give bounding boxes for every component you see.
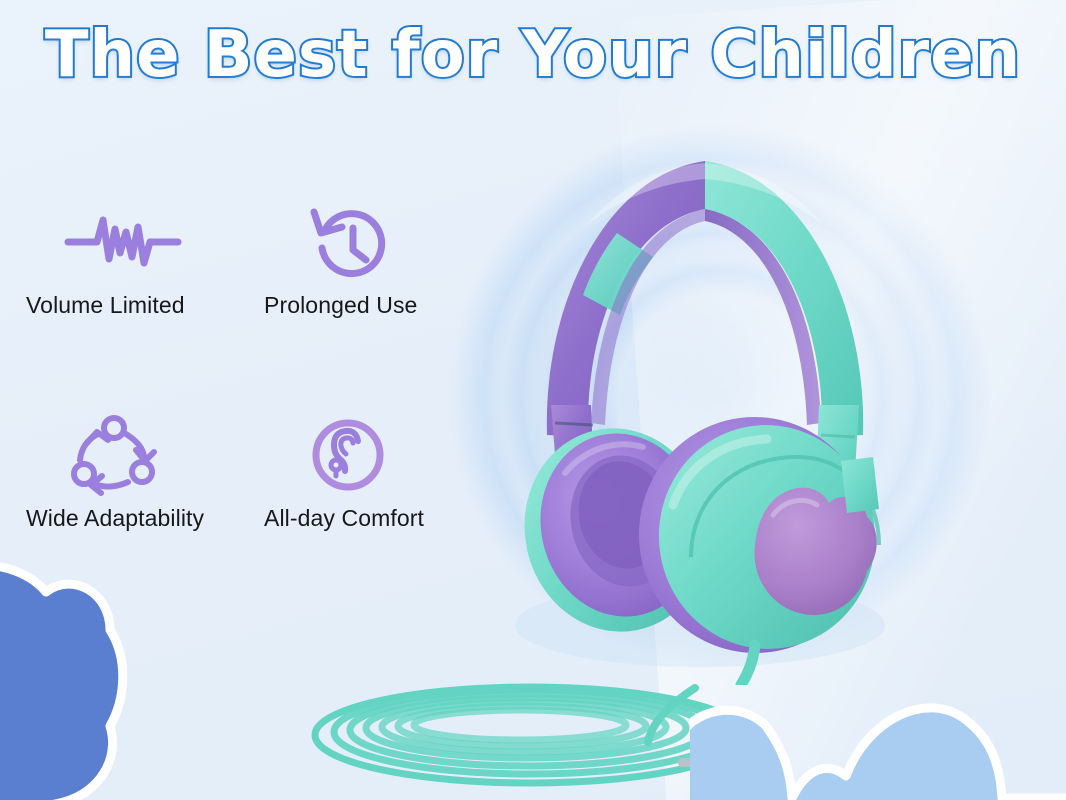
feature-all-day-comfort: All-day Comfort <box>258 409 473 532</box>
product-image-kids-headphones <box>455 105 955 685</box>
feature-list: Volume Limited Prolonged Use <box>18 196 488 532</box>
cloud-left <box>0 548 190 800</box>
feature-prolonged-use: Prolonged Use <box>258 196 473 319</box>
feature-label: Wide Adaptability <box>18 505 258 532</box>
ear-circle-icon <box>258 409 473 501</box>
waveform-icon <box>18 196 258 288</box>
clock-history-icon <box>258 196 473 288</box>
promo-banner: The Best for Your Children Volume Limite… <box>0 0 1066 800</box>
title-container: The Best for Your Children <box>0 22 1066 89</box>
feature-wide-adaptability: Wide Adaptability <box>18 409 258 532</box>
page-title: The Best for Your Children <box>0 22 1066 89</box>
feature-label: All-day Comfort <box>258 505 473 532</box>
feature-row-1: Volume Limited Prolonged Use <box>18 196 488 319</box>
hinge-right <box>841 457 879 513</box>
feature-label: Prolonged Use <box>258 292 473 319</box>
feature-label: Volume Limited <box>18 292 258 319</box>
cycle-nodes-icon <box>18 409 258 501</box>
feature-volume-limited: Volume Limited <box>18 196 258 319</box>
feature-row-2: Wide Adaptability All-day Comfort <box>18 409 488 532</box>
feature-row-spacer <box>18 319 488 409</box>
cloud-right <box>690 648 1066 800</box>
